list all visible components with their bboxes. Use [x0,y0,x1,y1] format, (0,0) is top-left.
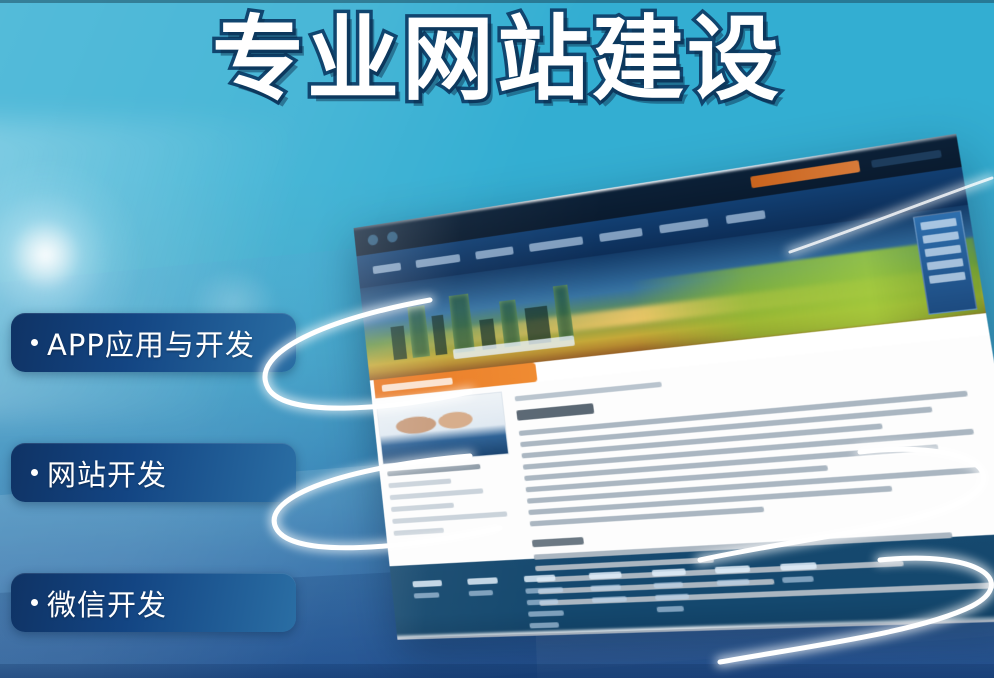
page-title: 专业网站建设 [0,8,994,111]
feature-pill-wechat[interactable]: 微信开发 [11,573,296,632]
mock-nav-item [373,263,402,275]
poster-canvas: 专业网站建设 [0,0,994,678]
mock-topbar-icon-1 [367,234,378,246]
mock-nav-item [475,246,514,259]
bullet-icon [31,599,38,606]
mock-nav-item [659,218,709,233]
mock-sidebar-photo [376,392,509,465]
mock-breadcrumb [515,382,663,402]
top-edge-strip [0,0,994,3]
mock-footer-column [524,574,569,637]
background-bottom-band [0,664,994,678]
bullet-icon [31,339,38,346]
mock-sidebar-line [391,503,454,512]
feature-pill-website[interactable]: 网站开发 [11,443,296,502]
bullet-icon [31,469,38,476]
mock-nav-item [529,236,583,252]
mock-footer-column [412,580,448,638]
mock-nav-item [599,228,643,242]
mock-footer-column [467,577,504,637]
mock-topbar-icon-2 [387,231,398,243]
mock-footer-column [715,565,759,631]
feature-pill-label: 网站开发 [47,452,167,494]
mock-sidebar-line [390,488,484,500]
mock-sidebar [376,392,522,567]
mock-nav-item [415,254,460,268]
mock-topbar-ghost [871,149,942,167]
mock-footer-column [780,562,826,629]
mock-article-subheading [532,537,584,547]
mock-sidebar-line [392,511,507,524]
mock-footer-column [652,568,694,633]
mock-sidebar-line [393,528,444,536]
mock-article [510,343,994,559]
feature-pill-label: APP应用与开发 [47,322,255,364]
mock-sidebar-line [387,464,481,476]
feature-pill-app[interactable]: APP应用与开发 [11,313,296,372]
mock-sidebar-line [388,478,451,488]
feature-pill-label: 微信开发 [47,582,167,624]
mock-footer-column [589,571,632,635]
mock-nav-item [726,210,766,224]
mock-article-title [516,403,594,420]
